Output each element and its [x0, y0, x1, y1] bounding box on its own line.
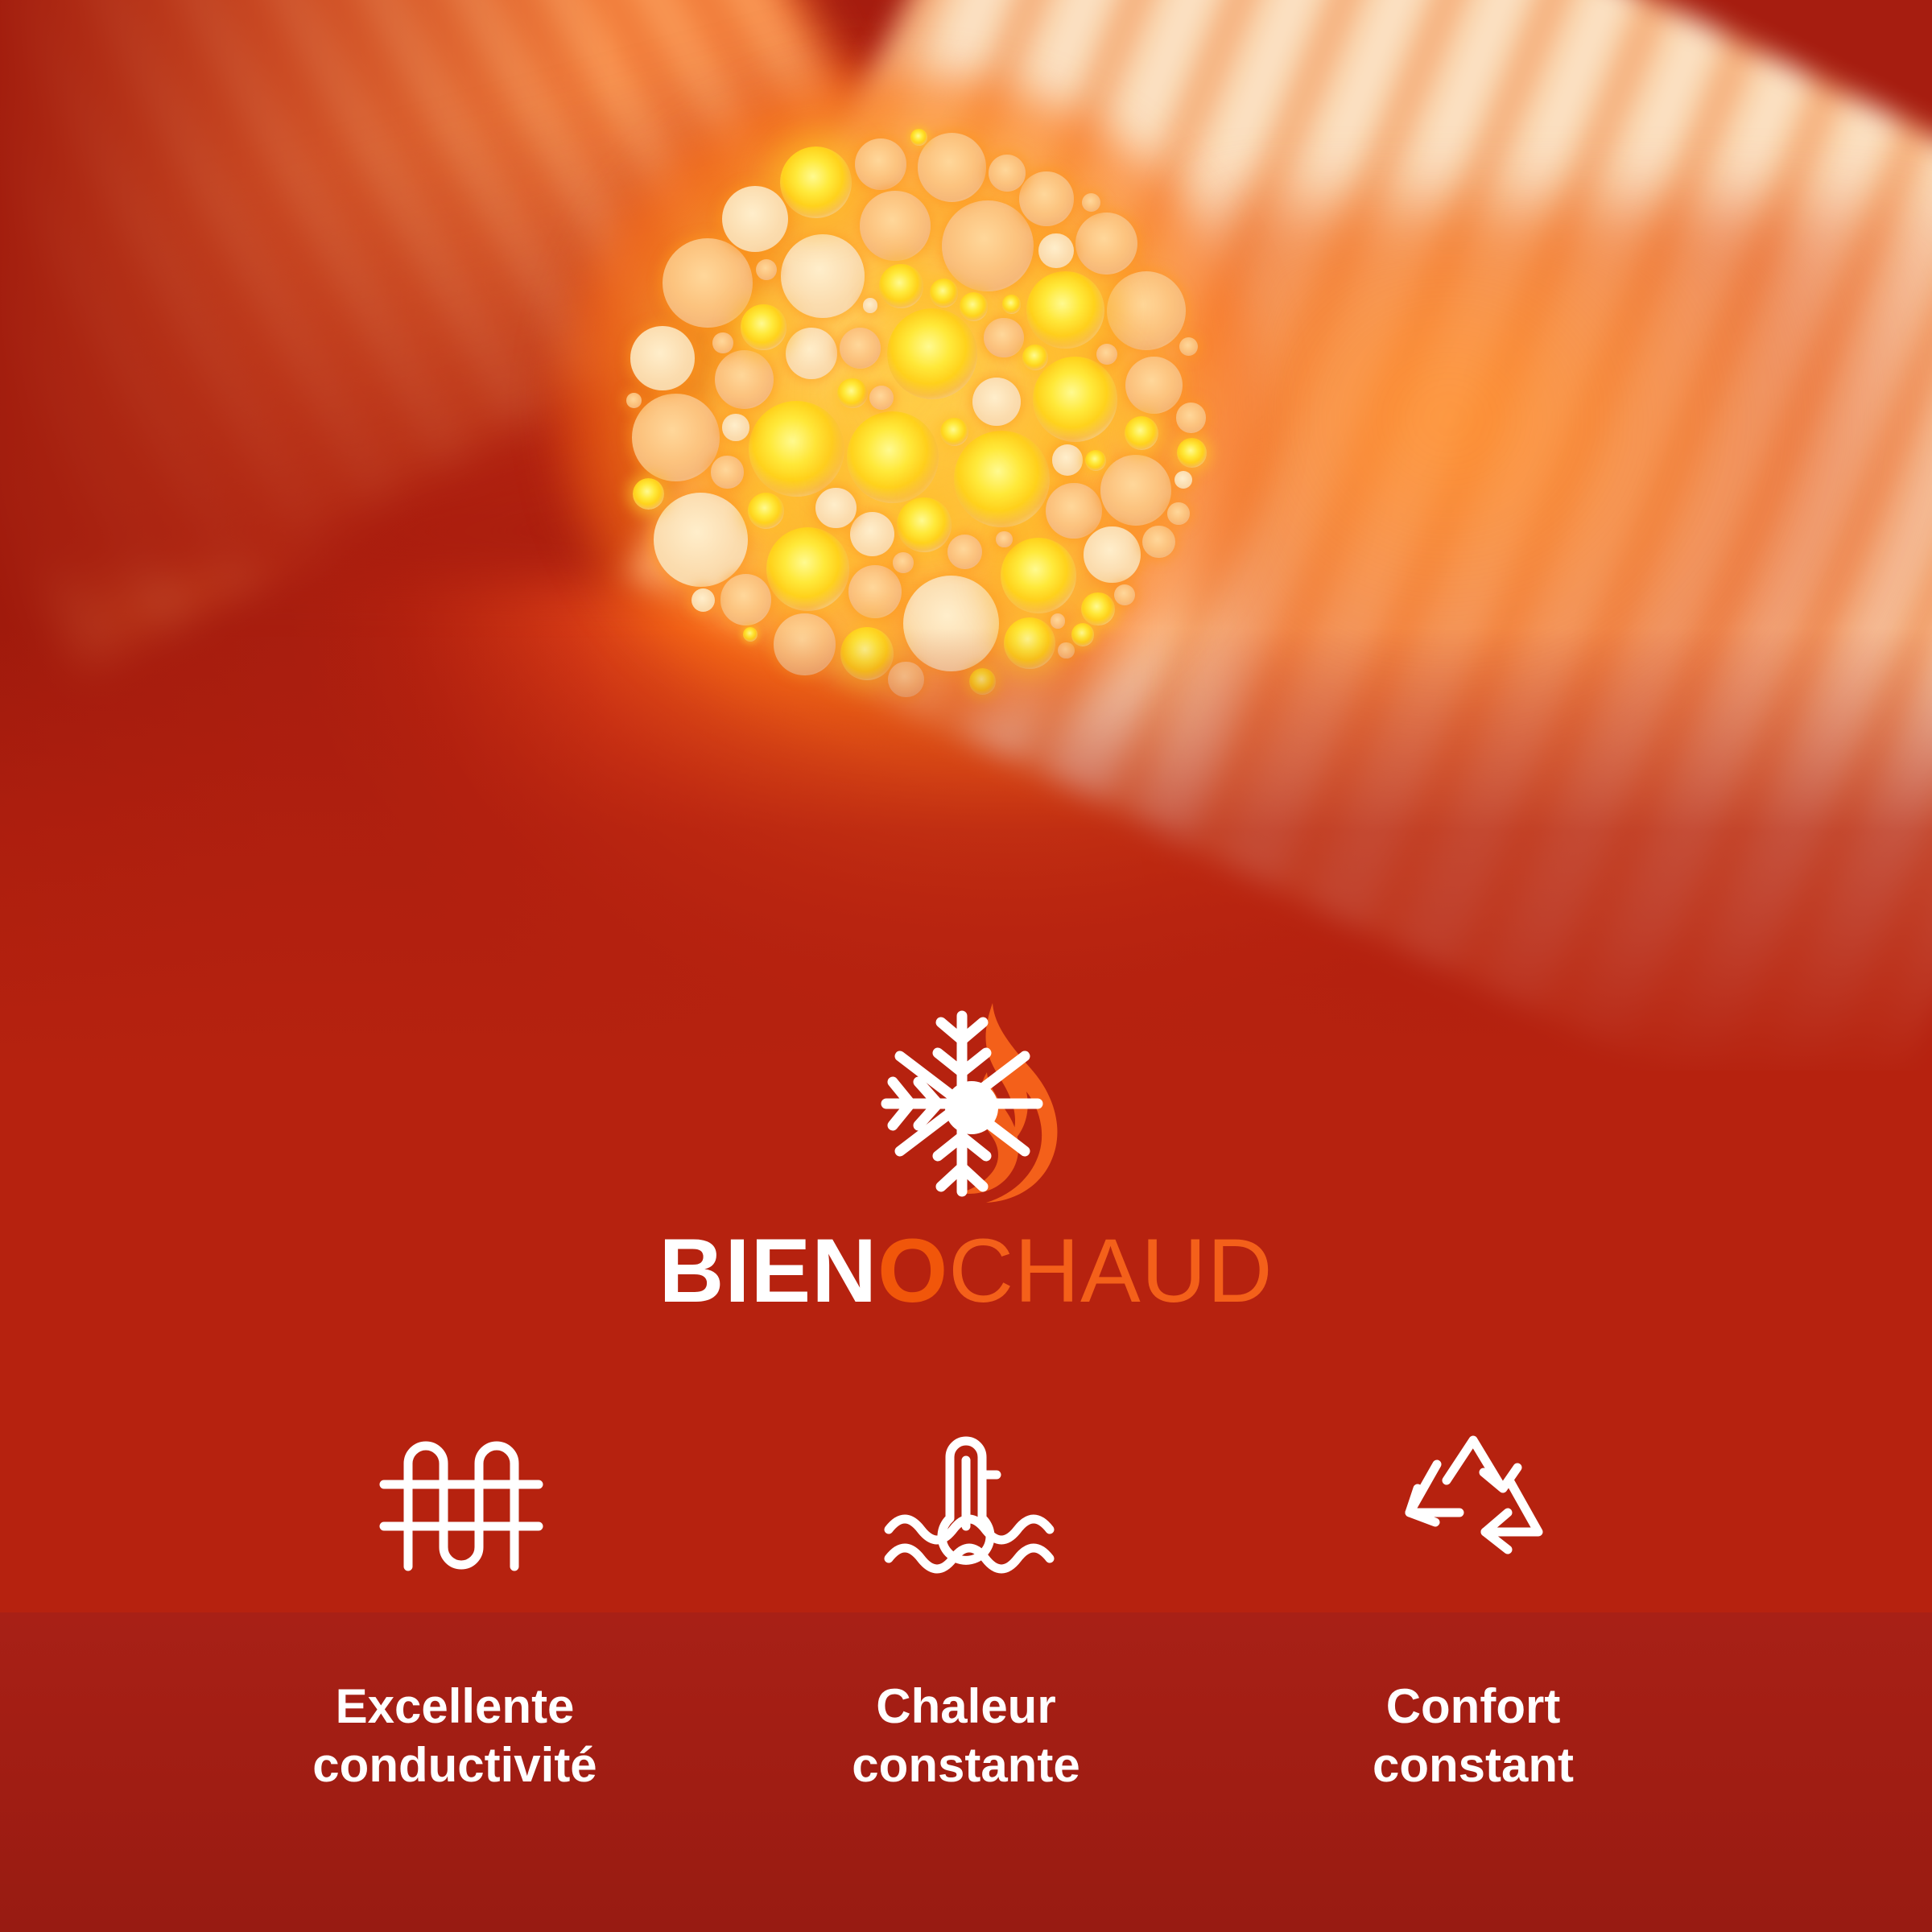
pipe-cross-section — [1038, 233, 1073, 268]
bottom-label-constant-heat: Chaleur constante — [708, 1677, 1224, 1794]
pipe-cross-section — [749, 401, 845, 497]
pipe-cross-section — [940, 418, 968, 446]
pipe-cross-section — [972, 378, 1021, 426]
pipe-cross-section — [1082, 193, 1100, 212]
pipe-cross-section — [910, 129, 927, 146]
pipe-cross-section — [1085, 450, 1106, 471]
pipe-cross-section — [855, 138, 907, 191]
pipe-cross-section — [837, 378, 867, 408]
pipe-cross-section — [1176, 402, 1207, 433]
pipe-cross-section — [848, 565, 902, 618]
pipe-cross-section — [1084, 526, 1140, 583]
pipe-cross-section — [654, 493, 748, 587]
pipe-cross-section — [1001, 538, 1076, 613]
pipe-cross-section — [863, 298, 877, 312]
pipe-cross-section — [1096, 344, 1117, 365]
pipe-cross-section — [840, 328, 881, 369]
hero-photo — [0, 0, 1932, 1071]
pipe-cross-section — [847, 411, 939, 503]
wordmark-chaud: CHAUD — [948, 1220, 1273, 1321]
flame-snowflake-logo-mark — [873, 1197, 1059, 1211]
pipe-cross-section — [850, 512, 894, 556]
pipe-cross-section — [741, 304, 786, 349]
pipe-cross-section — [786, 328, 837, 379]
pipe-cross-section — [712, 332, 733, 353]
pipe-cross-section — [1177, 438, 1207, 468]
brand-wordmark: BIENOCHAUD — [0, 1226, 1932, 1316]
bottom-label-constant-comfort: Confort constant — [1216, 1677, 1731, 1794]
pipe-cross-section — [1033, 357, 1117, 441]
pipe-cross-section — [1107, 271, 1186, 350]
pipe-cross-section — [722, 414, 749, 440]
pipe-cross-section — [918, 133, 986, 201]
pipe-cross-section — [691, 588, 715, 612]
pipe-cross-section — [630, 326, 694, 390]
pipe-cross-section — [1174, 471, 1192, 489]
pipe-cross-section — [748, 493, 784, 529]
pipe-cross-section — [989, 155, 1026, 192]
pipe-cross-section — [815, 488, 857, 529]
pipe-cross-section — [711, 456, 743, 488]
pipe-cross-section — [1142, 526, 1174, 558]
pipe-cross-section — [632, 394, 720, 481]
thermometer-water-waves-icon — [716, 1405, 1216, 1606]
pipe-cross-section — [1019, 171, 1074, 226]
pipe-cross-section — [947, 535, 983, 570]
recycle-triangle-icon — [1224, 1405, 1723, 1606]
pipe-cross-section — [756, 259, 777, 280]
bottom-label-conductivity: Excellente conductivité — [197, 1677, 712, 1794]
heating-coil-icon — [213, 1405, 712, 1606]
pipe-cross-section — [893, 552, 914, 573]
pipe-cross-section — [722, 186, 788, 252]
pipe-bundle-cross-section — [596, 105, 1232, 716]
wordmark-bien: BIEN — [659, 1220, 878, 1321]
pipe-cross-section — [942, 200, 1034, 292]
pipe-cross-section — [720, 574, 772, 625]
pipe-cross-section — [897, 497, 952, 552]
pipe-cross-section — [860, 191, 931, 262]
pipe-cross-section — [1081, 592, 1114, 625]
pipe-cross-section — [1100, 455, 1171, 526]
pipe-cross-section — [766, 527, 849, 610]
pipe-cross-section — [780, 147, 852, 218]
pipe-cross-section — [879, 264, 923, 308]
wordmark-o: O — [877, 1220, 948, 1321]
pipe-cross-section — [869, 386, 894, 410]
pipe-cross-section — [1167, 502, 1190, 525]
brand-logo: BIENOCHAUD — [0, 998, 1932, 1316]
promo-poster: BIENOCHAUD Excellente conductivité — [0, 0, 1932, 1932]
pipe-cross-section — [1114, 584, 1135, 605]
pipe-cross-section — [633, 478, 664, 510]
pipe-cross-section — [1051, 613, 1065, 628]
pipe-cross-section — [1022, 345, 1048, 370]
pipe-cross-section — [1125, 416, 1158, 450]
pipe-cross-section — [984, 318, 1023, 357]
pipe-cross-section — [1026, 271, 1104, 349]
pipe-cross-section — [1052, 444, 1084, 476]
pipe-cross-section — [1002, 295, 1021, 313]
pipe-cross-section — [1179, 337, 1198, 356]
pipe-cross-section — [930, 279, 958, 307]
pipe-cross-section — [887, 308, 978, 399]
pipe-cross-section — [781, 234, 865, 318]
pipe-cross-section — [954, 431, 1051, 527]
pipe-cross-section — [1075, 213, 1137, 275]
pipe-cross-section — [1046, 483, 1101, 539]
pipe-cross-section — [715, 350, 774, 409]
pipe-cross-section — [663, 238, 753, 328]
pipe-cross-section — [996, 531, 1013, 548]
pipe-cross-section — [626, 393, 642, 408]
pipe-cross-section — [1125, 357, 1183, 414]
bottom-band-labels: Excellente conductivité Chaleur constant… — [0, 1612, 1932, 1932]
pipe-cross-section — [960, 292, 988, 320]
